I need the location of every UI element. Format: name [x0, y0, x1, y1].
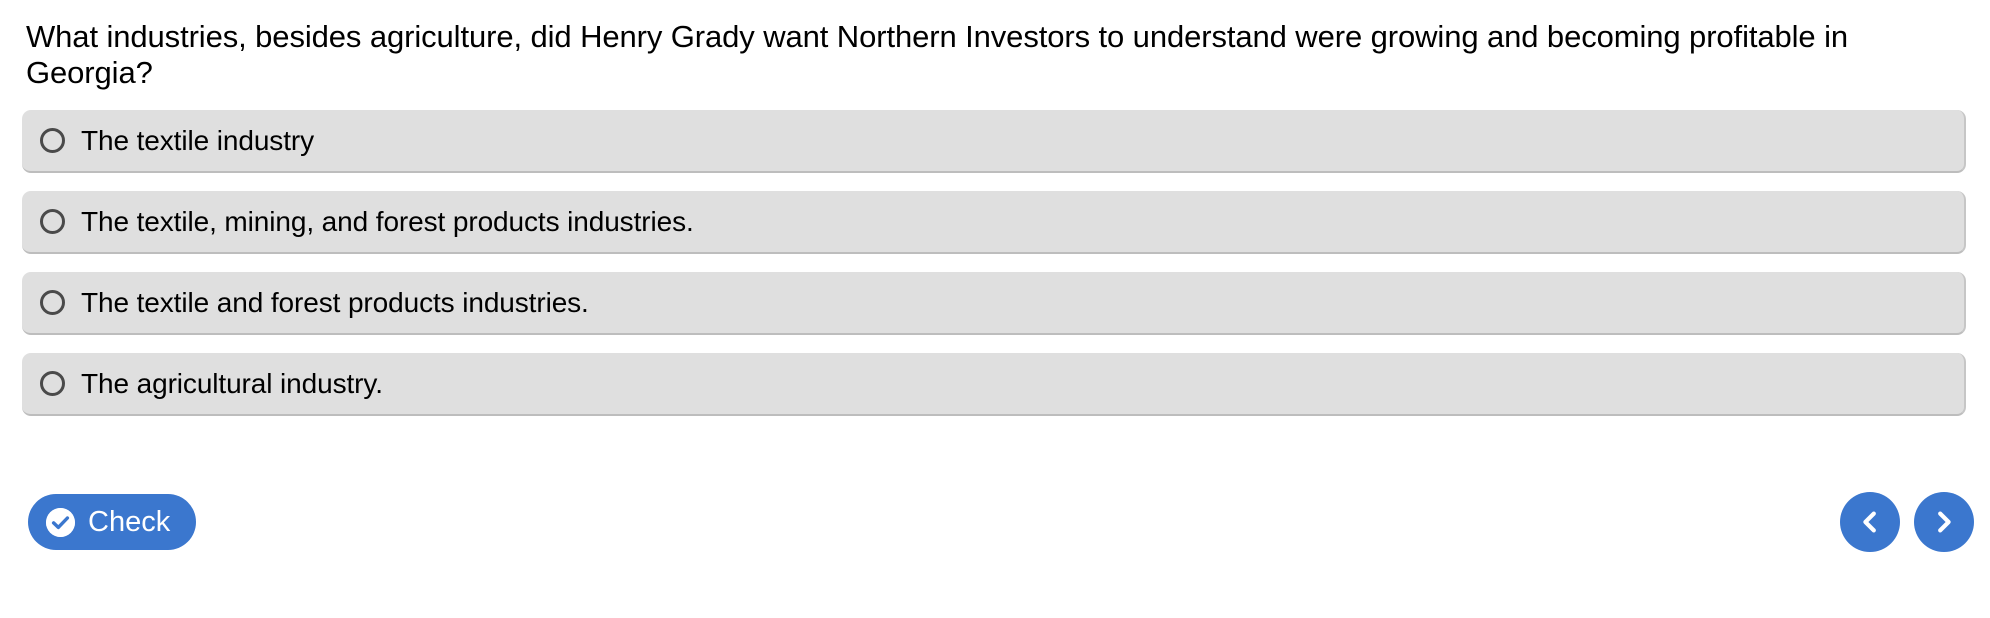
answer-options-list: The textile industry The textile, mining… [22, 110, 1966, 434]
answer-option-2[interactable]: The textile, mining, and forest products… [22, 191, 1966, 254]
answer-option-1[interactable]: The textile industry [22, 110, 1966, 173]
quiz-footer: Check [0, 484, 1990, 574]
answer-option-3[interactable]: The textile and forest products industri… [22, 272, 1966, 335]
next-question-button[interactable] [1914, 492, 1974, 552]
quiz-question-panel: What industries, besides agriculture, di… [0, 0, 1990, 618]
answer-option-label: The textile, mining, and forest products… [81, 206, 694, 238]
check-button[interactable]: Check [28, 494, 196, 550]
radio-unchecked-icon[interactable] [40, 128, 65, 153]
previous-question-button[interactable] [1840, 492, 1900, 552]
answer-option-4[interactable]: The agricultural industry. [22, 353, 1966, 416]
answer-option-label: The textile and forest products industri… [81, 287, 589, 319]
radio-unchecked-icon[interactable] [40, 209, 65, 234]
answer-option-label: The textile industry [81, 125, 314, 157]
question-prompt: What industries, besides agriculture, di… [26, 19, 1906, 91]
chevron-left-icon [1855, 507, 1885, 537]
check-circle-icon [46, 508, 75, 537]
navigation-buttons [1840, 492, 1974, 552]
radio-unchecked-icon[interactable] [40, 371, 65, 396]
answer-option-label: The agricultural industry. [81, 368, 383, 400]
chevron-right-icon [1929, 507, 1959, 537]
radio-unchecked-icon[interactable] [40, 290, 65, 315]
check-button-label: Check [88, 508, 170, 537]
